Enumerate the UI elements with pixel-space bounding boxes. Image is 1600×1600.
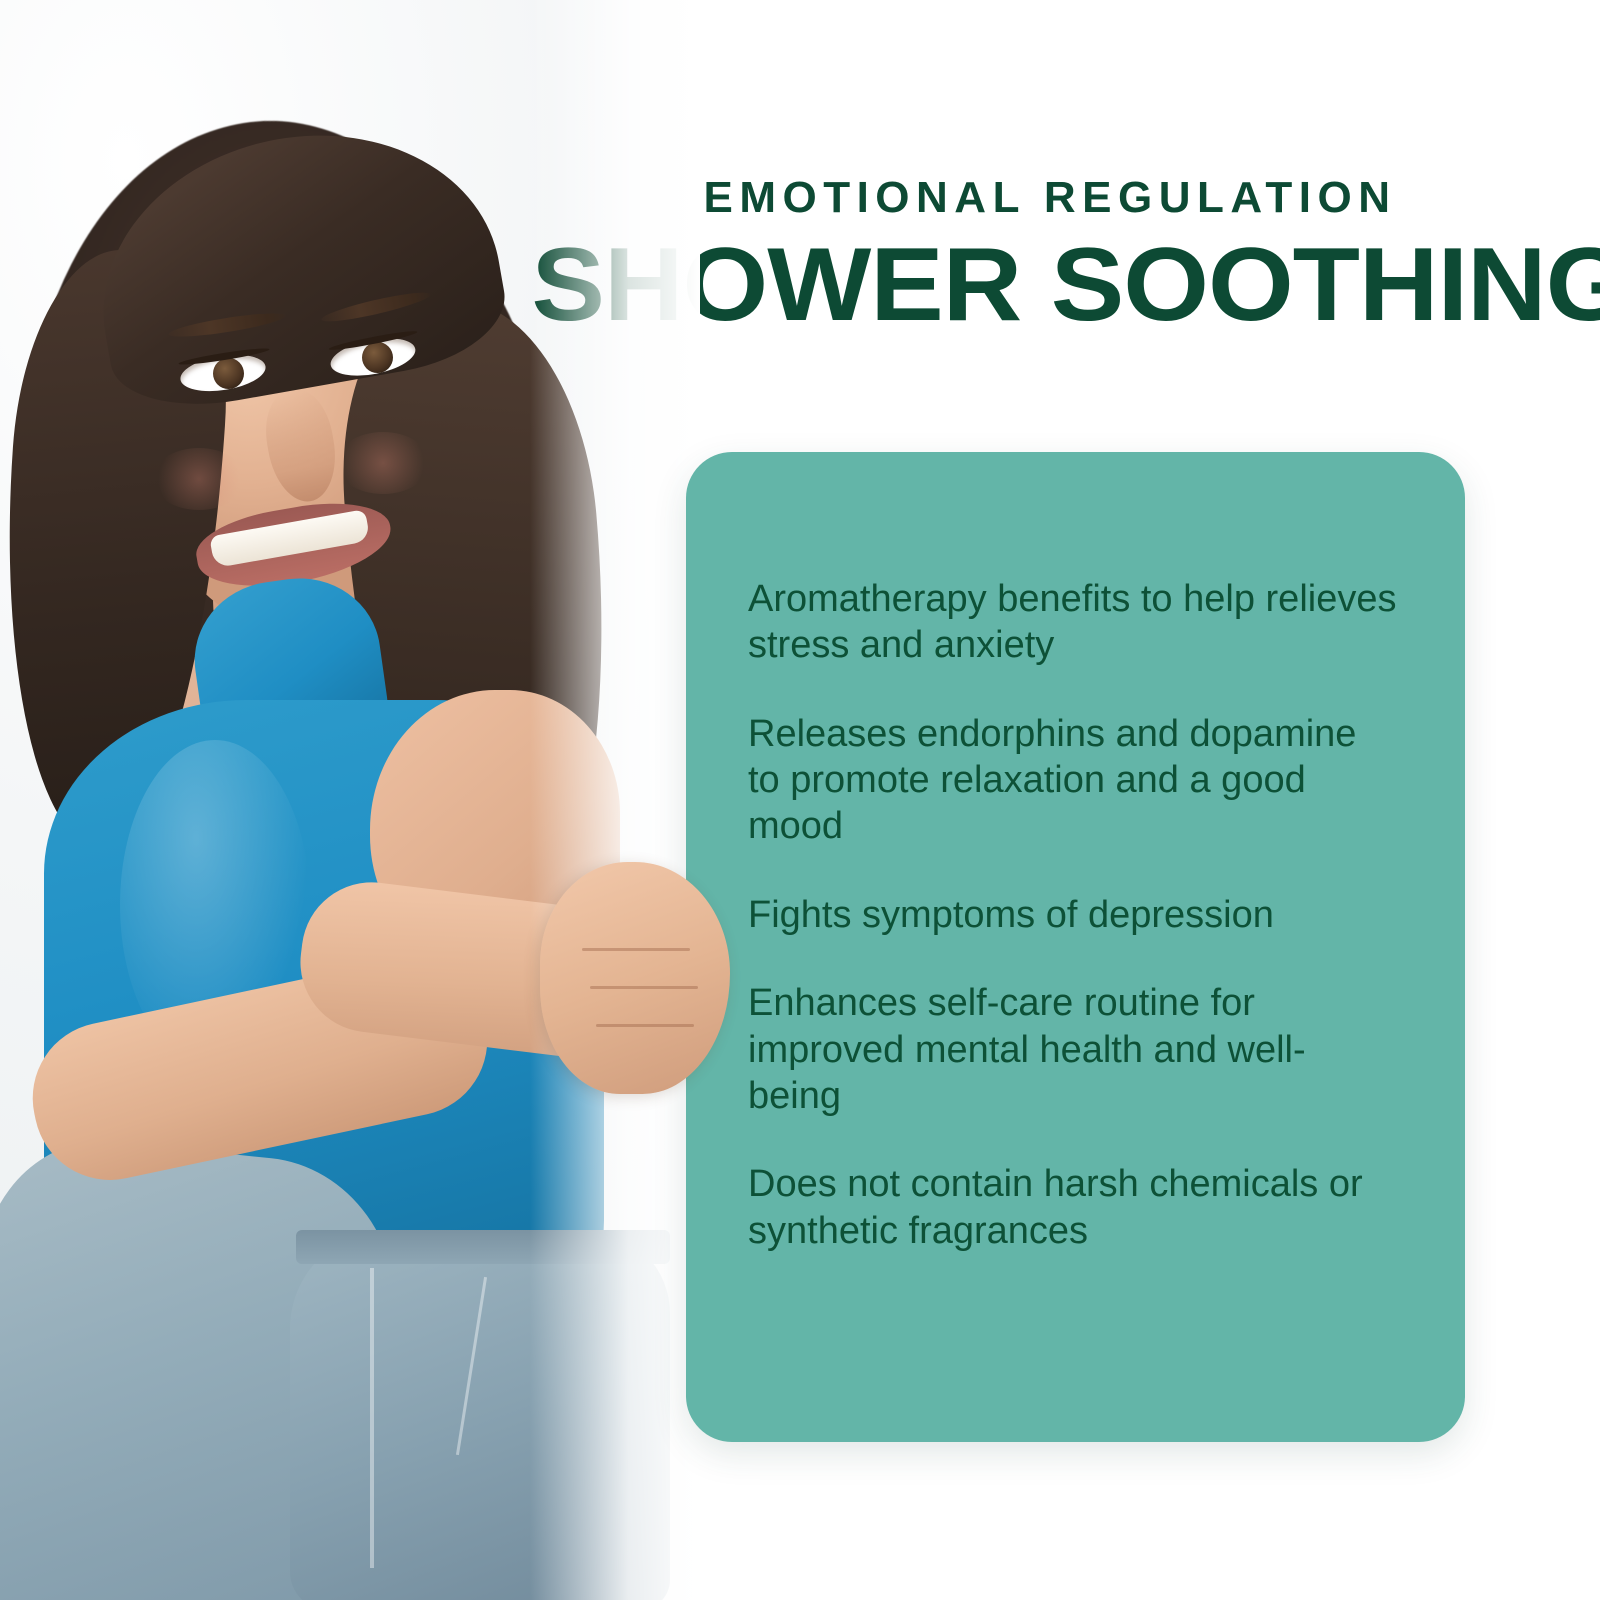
benefit-item: Releases endorphins and dopamine to prom…	[748, 711, 1398, 850]
benefit-item: Does not contain harsh chemicals or synt…	[748, 1161, 1398, 1254]
benefits-list: Aromatherapy benefits to help relieves s…	[748, 538, 1417, 1254]
photo-edge-fade	[530, 0, 700, 1600]
hand-fist	[540, 862, 730, 1094]
benefit-item: Aromatherapy benefits to help relieves s…	[748, 576, 1398, 669]
model-photo	[0, 0, 700, 1600]
benefits-panel: Aromatherapy benefits to help relieves s…	[686, 452, 1465, 1442]
infographic-canvas: EMOTIONAL REGULATION SHOWER SOOTHING Aro…	[0, 0, 1600, 1600]
cheek-right	[336, 432, 430, 494]
iris-right	[362, 342, 393, 373]
iris-left	[213, 358, 244, 389]
jeans-seam	[370, 1268, 374, 1568]
cheek-left	[152, 448, 246, 510]
eyebrow-text: EMOTIONAL REGULATION	[570, 176, 1530, 220]
benefit-item: Enhances self-care routine for improved …	[748, 980, 1398, 1119]
benefit-item: Fights symptoms of depression	[748, 892, 1398, 938]
